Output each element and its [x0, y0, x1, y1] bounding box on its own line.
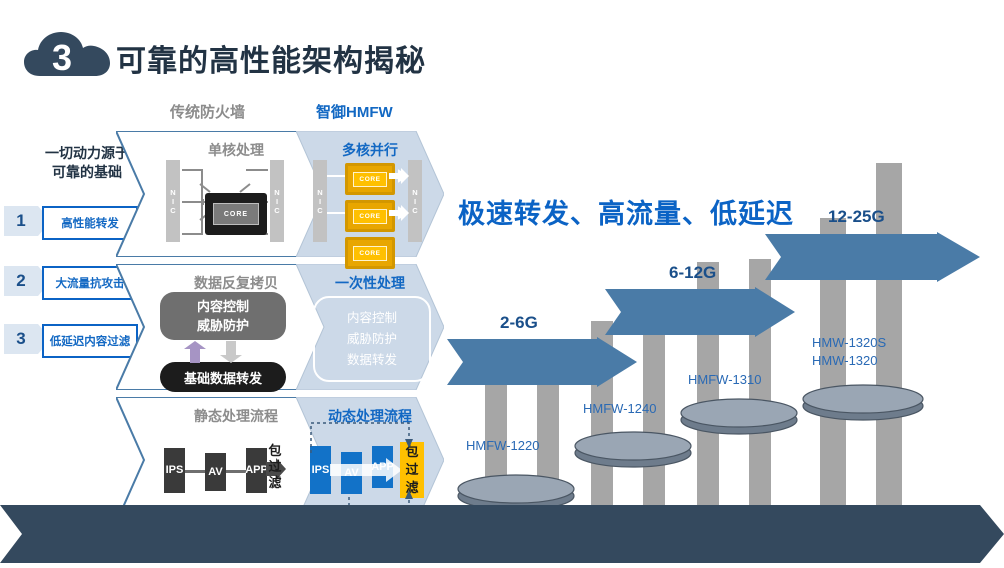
throughput-label-1: 2-6G — [500, 313, 538, 333]
nic-left-hmfw: NIC — [313, 160, 327, 242]
nic-left-traditional: NIC — [166, 160, 180, 242]
throughput-label-3: 12-25G — [828, 207, 885, 227]
core-box-label-3: CORE — [353, 246, 387, 261]
column-caption-hmfw: 智御HMFW — [316, 101, 393, 122]
feature-number-2: 2 — [4, 266, 38, 296]
throughput-arrow-2 — [605, 287, 795, 337]
cloud-badge-number: 3 — [52, 37, 72, 78]
core-single-traditional: CORE — [205, 193, 267, 235]
product-label-1: HMFW-1220 — [466, 437, 539, 455]
filter-label-traditional-text: 包过滤 — [263, 443, 287, 491]
filter-label-traditional: 包过滤 — [263, 443, 287, 491]
device-disc-2 — [572, 425, 694, 469]
slogan-text: 极速转发、高流量、低延迟 — [458, 192, 794, 231]
product-label-5: HMW-1320 — [812, 352, 878, 370]
panel-title-multi-core: 多核并行 — [296, 140, 444, 160]
device-disc-3 — [678, 392, 800, 436]
one-pass-line3: 数据转发 — [347, 350, 397, 371]
core-single-label: CORE — [213, 203, 259, 225]
throughput-arrow-3 — [765, 232, 980, 282]
one-pass-line2: 威胁防护 — [347, 329, 397, 350]
throughput-label-2: 6-12G — [669, 263, 716, 283]
bottom-band — [0, 505, 1004, 563]
feature-number-3: 3 — [4, 324, 38, 354]
one-pass-line1: 内容控制 — [347, 308, 397, 329]
block-av-traditional: AV — [205, 453, 226, 491]
block-ips-traditional: IPS — [164, 448, 185, 493]
panel-title-one-pass: 一次性处理 — [296, 273, 444, 293]
dynamic-flow-feedback-icon — [305, 417, 427, 517]
pill-content-control: 内容控制 威胁防护 — [160, 292, 286, 340]
pill-content-control-line2: 威胁防护 — [197, 316, 249, 335]
pill-content-control-line1: 内容控制 — [197, 297, 249, 316]
nic-right-traditional: NIC — [270, 160, 284, 242]
product-label-4: HMW-1320S — [812, 334, 886, 352]
cloud-badge-icon: 3 — [22, 26, 118, 82]
product-label-3: HMFW-1310 — [688, 371, 761, 389]
pill-basic-forwarding: 基础数据转发 — [160, 362, 286, 392]
hmfw-core-arrows-icon — [389, 163, 411, 245]
hmfw-one-pass-body: 内容控制 威胁防护 数据转发 — [313, 296, 431, 382]
product-label-2: HMFW-1240 — [583, 400, 656, 418]
flow-connector-2 — [226, 470, 246, 473]
copy-arrows-icon — [182, 341, 262, 363]
column-caption-traditional: 传统防火墙 — [170, 101, 245, 122]
throughput-arrow-1 — [447, 337, 637, 387]
device-disc-4 — [800, 378, 926, 422]
page-title: 可靠的高性能架构揭秘 — [116, 36, 426, 80]
feature-number-1: 1 — [4, 206, 38, 236]
flow-connector-1 — [185, 470, 205, 473]
